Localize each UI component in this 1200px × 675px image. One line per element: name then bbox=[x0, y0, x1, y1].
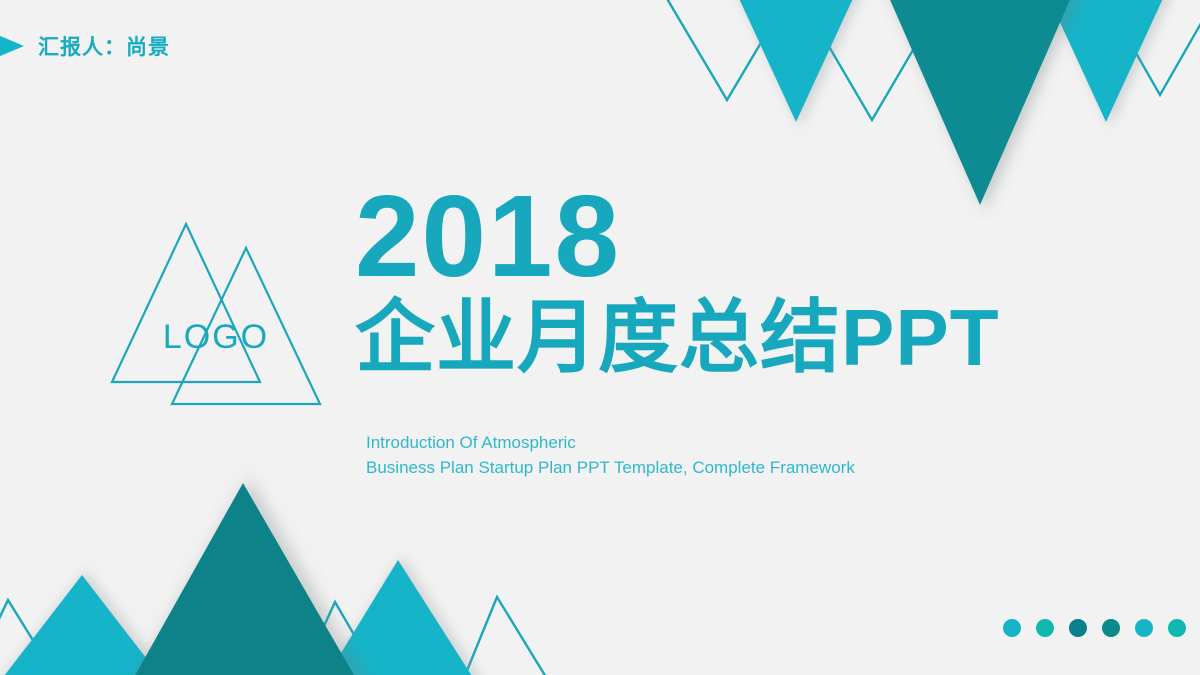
filled-mountain-dark bbox=[110, 483, 380, 675]
outlined-triangle-top-1 bbox=[650, 0, 804, 100]
dot-indicator bbox=[1168, 619, 1186, 637]
outlined-mountain-3 bbox=[455, 597, 560, 675]
dot-indicator-row bbox=[1003, 619, 1186, 637]
play-triangle-icon bbox=[0, 29, 28, 63]
reporter-bar: 汇报人：尚景 bbox=[0, 26, 170, 66]
logo-triangle-large bbox=[112, 224, 260, 382]
dot-indicator bbox=[1102, 619, 1120, 637]
reporter-label: 汇报人：尚景 bbox=[38, 31, 170, 61]
dot-indicator bbox=[1036, 619, 1054, 637]
filled-triangle-top-light-2 bbox=[1022, 0, 1190, 122]
outlined-triangle-top-3 bbox=[1100, 0, 1200, 95]
filled-triangle-top-dark bbox=[855, 0, 1105, 205]
title-main: 企业月度总结PPT bbox=[355, 296, 1175, 380]
dot-indicator bbox=[1069, 619, 1087, 637]
logo-text: LOGO bbox=[108, 318, 324, 357]
subtitle-line-1: Introduction Of Atmospheric bbox=[366, 431, 855, 456]
filled-mountain-light-1 bbox=[0, 575, 194, 675]
filled-mountain-light-2 bbox=[300, 560, 500, 675]
subtitle-line-2: Business Plan Startup Plan PPT Template,… bbox=[366, 456, 855, 481]
outlined-triangle-top-2 bbox=[790, 0, 954, 120]
outlined-mountain-2 bbox=[290, 602, 392, 675]
outlined-mountain-1 bbox=[0, 600, 70, 675]
dot-indicator bbox=[1003, 619, 1021, 637]
dot-indicator bbox=[1135, 619, 1153, 637]
headline-block: 2018 企业月度总结PPT bbox=[355, 178, 1175, 380]
subtitle-block: Introduction Of Atmospheric Business Pla… bbox=[366, 431, 855, 480]
filled-triangle-top-light-1 bbox=[712, 0, 880, 122]
title-year: 2018 bbox=[355, 178, 1175, 294]
logo-triangles-icon bbox=[108, 212, 324, 412]
presentation-slide: 汇报人：尚景 LOGO 2018 企业月度总结PPT Introduction … bbox=[0, 0, 1200, 675]
